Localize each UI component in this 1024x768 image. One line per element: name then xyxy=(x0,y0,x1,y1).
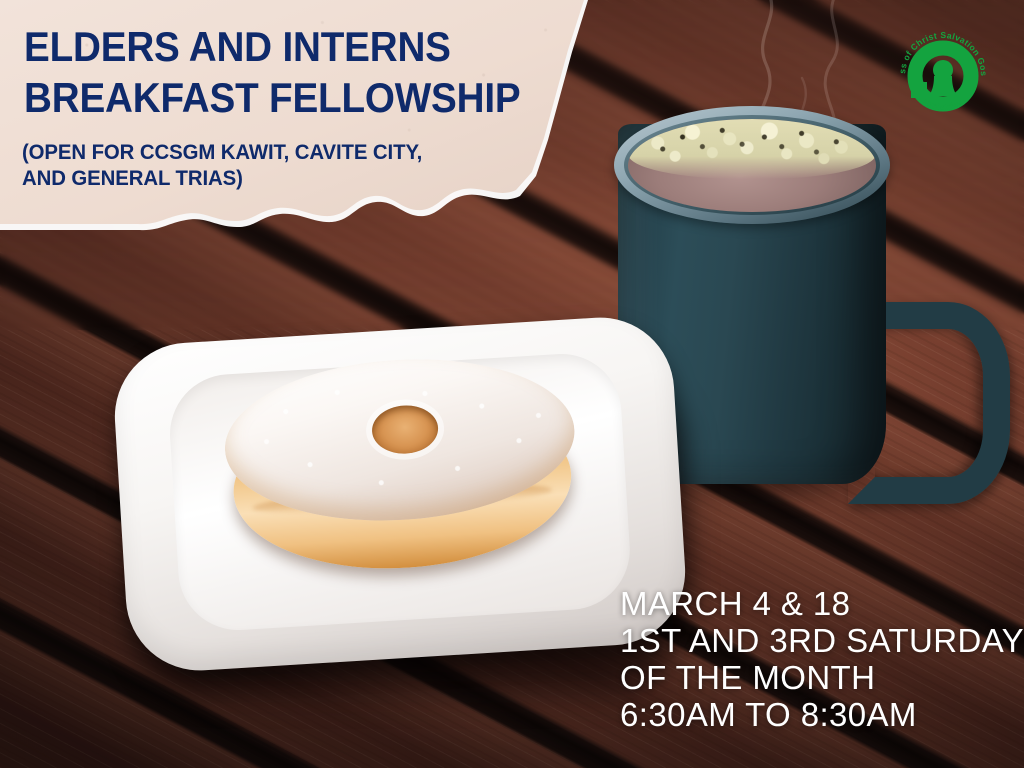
headline-line-2: BREAKFAST FELLOWSHIP xyxy=(24,77,539,118)
froth-bubbles xyxy=(628,119,876,179)
powdered-sugar-donut xyxy=(220,349,582,585)
event-details: MARCH 4 & 18 1ST AND 3RD SATURDAY OF THE… xyxy=(620,586,1024,734)
coffee-froth xyxy=(628,119,876,179)
plate-with-donut xyxy=(120,330,700,700)
event-flyer: ELDERS AND INTERNS BREAKFAST FELLOWSHIP … xyxy=(0,0,1024,768)
ccsgm-logo-icon: Cross of Christ Salvation Gospel Ministr… xyxy=(893,26,993,126)
subtitle: (OPEN FOR CCSGM KAWIT, CAVITE CITY, AND … xyxy=(22,140,602,191)
details-line-4: 6:30AM TO 8:30AM xyxy=(620,697,1024,734)
headline-line-1: ELDERS AND INTERNS xyxy=(24,26,539,67)
subtitle-line-2: AND GENERAL TRIAS) xyxy=(22,166,585,192)
torn-paper-banner: ELDERS AND INTERNS BREAKFAST FELLOWSHIP … xyxy=(0,0,620,250)
details-line-2: 1ST AND 3RD SATURDAY xyxy=(620,623,1024,660)
coffee-surface xyxy=(628,119,876,212)
white-square-plate xyxy=(111,313,690,675)
subtitle-line-1: (OPEN FOR CCSGM KAWIT, CAVITE CITY, xyxy=(22,140,585,166)
details-line-3: OF THE MONTH xyxy=(620,660,1024,697)
headline: ELDERS AND INTERNS BREAKFAST FELLOWSHIP xyxy=(24,26,584,118)
details-line-1: MARCH 4 & 18 xyxy=(620,586,1024,623)
